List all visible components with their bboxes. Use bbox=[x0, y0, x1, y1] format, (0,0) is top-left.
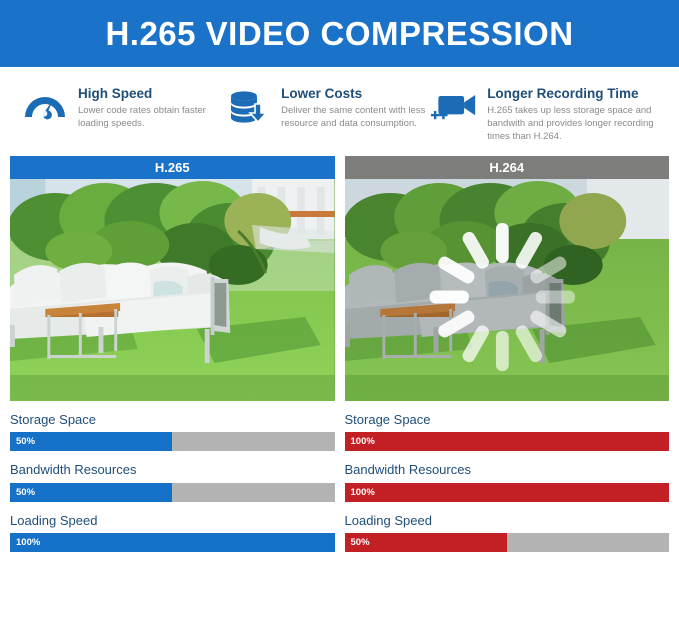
features-row: High Speed Lower code rates obtain faste… bbox=[0, 67, 679, 150]
metric-label: Bandwidth Resources bbox=[345, 463, 670, 477]
metric-label: Loading Speed bbox=[10, 514, 335, 528]
photo-h264-loading bbox=[345, 179, 670, 401]
panel-h264: H.264 bbox=[345, 156, 670, 401]
photo-h265-sharp bbox=[10, 179, 335, 401]
bar-value: 50% bbox=[16, 432, 35, 451]
comparison-panels: H.265 bbox=[0, 150, 679, 401]
metric-loading-speed: Loading Speed 100% bbox=[10, 514, 335, 552]
metrics-h265: Storage Space 50% Bandwidth Resources 50… bbox=[10, 413, 335, 564]
metric-storage-space: Storage Space 50% bbox=[10, 413, 335, 451]
feature-title: High Speed bbox=[78, 86, 225, 102]
metric-loading-speed: Loading Speed 50% bbox=[345, 514, 670, 552]
panel-h265: H.265 bbox=[10, 156, 335, 401]
feature-description: Lower code rates obtain faster loading s… bbox=[78, 104, 225, 131]
speedometer-icon bbox=[22, 87, 68, 127]
feature-description: Deliver the same content with less resou… bbox=[281, 104, 431, 131]
feature-text: Longer Recording Time H.265 takes up les… bbox=[487, 85, 665, 144]
metric-bandwidth-resources: Bandwidth Resources 100% bbox=[345, 463, 670, 501]
feature-title: Lower Costs bbox=[281, 86, 431, 102]
bar-value: 100% bbox=[16, 533, 40, 552]
metric-label: Storage Space bbox=[345, 413, 670, 427]
feature-longer-recording-time: Longer Recording Time H.265 takes up les… bbox=[431, 85, 665, 144]
feature-text: High Speed Lower code rates obtain faste… bbox=[78, 85, 225, 130]
bar-fill bbox=[10, 533, 335, 552]
bar-track: 100% bbox=[345, 483, 670, 502]
page-header-banner: H.265 VIDEO COMPRESSION bbox=[0, 0, 679, 67]
feature-description: H.265 takes up less storage space and ba… bbox=[487, 104, 665, 144]
metrics-h264: Storage Space 100% Bandwidth Resources 1… bbox=[345, 413, 670, 564]
bar-fill bbox=[345, 483, 670, 502]
feature-text: Lower Costs Deliver the same content wit… bbox=[281, 85, 431, 130]
bar-value: 50% bbox=[16, 483, 35, 502]
bar-value: 50% bbox=[351, 533, 370, 552]
metric-label: Bandwidth Resources bbox=[10, 463, 335, 477]
panel-header-h265: H.265 bbox=[10, 156, 335, 179]
metric-storage-space: Storage Space 100% bbox=[345, 413, 670, 451]
metric-label: Storage Space bbox=[10, 413, 335, 427]
bar-track: 50% bbox=[10, 432, 335, 451]
feature-high-speed: High Speed Lower code rates obtain faste… bbox=[14, 85, 225, 144]
page-title: H.265 VIDEO COMPRESSION bbox=[105, 17, 573, 50]
feature-title: Longer Recording Time bbox=[487, 86, 665, 102]
bar-fill bbox=[345, 432, 670, 451]
metrics-row: Storage Space 50% Bandwidth Resources 50… bbox=[0, 401, 679, 564]
bar-value: 100% bbox=[351, 483, 375, 502]
metric-bandwidth-resources: Bandwidth Resources 50% bbox=[10, 463, 335, 501]
bar-track: 50% bbox=[10, 483, 335, 502]
metric-label: Loading Speed bbox=[345, 514, 670, 528]
bar-track: 100% bbox=[10, 533, 335, 552]
feature-lower-costs: Lower Costs Deliver the same content wit… bbox=[225, 85, 431, 144]
bar-value: 100% bbox=[351, 432, 375, 451]
database-download-icon bbox=[225, 87, 271, 127]
video-camera-plus-icon bbox=[431, 87, 477, 127]
panel-header-h264: H.264 bbox=[345, 156, 670, 179]
bar-track: 100% bbox=[345, 432, 670, 451]
bar-track: 50% bbox=[345, 533, 670, 552]
